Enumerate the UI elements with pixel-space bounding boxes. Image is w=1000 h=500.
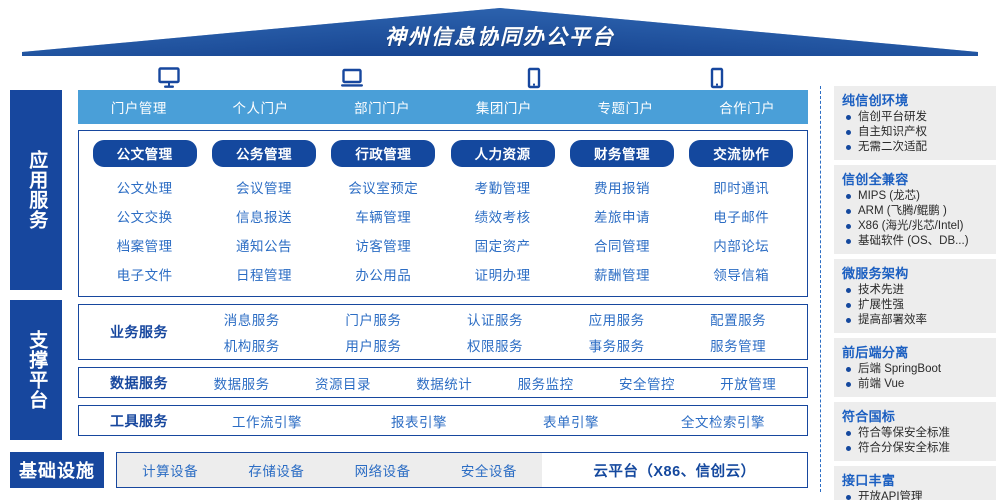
title-banner: 神州信息协同办公平台: [0, 0, 1000, 62]
support-item[interactable]: 事务服务: [556, 332, 678, 358]
app-item[interactable]: 差旅申请: [562, 201, 681, 230]
app-item[interactable]: 领导信箱: [682, 259, 801, 288]
feature-item: X86 (海光/兆芯/Intel): [842, 219, 990, 234]
feature-item: 技术先进: [842, 283, 990, 298]
architecture-diagram: 神州信息协同办公平台: [0, 0, 1000, 500]
feature-item: 后端 SpringBoot: [842, 362, 990, 377]
support-item[interactable]: 报表引擎: [343, 408, 495, 434]
support-item[interactable]: 表单引擎: [495, 408, 647, 434]
portal-item[interactable]: 门户管理: [78, 97, 200, 117]
app-category-header[interactable]: 公文管理: [93, 140, 197, 167]
support-item[interactable]: 安全管控: [596, 370, 697, 396]
device-slot-phone: [626, 60, 809, 90]
app-item[interactable]: 公文处理: [85, 172, 204, 201]
support-row-business: 业务服务 消息服务 门户服务 认证服务 应用服务 配置服务 机构服务 用户服务 …: [78, 304, 808, 360]
app-category-column: 行政管理 会议室预定 车辆管理 访客管理 办公用品: [324, 140, 443, 288]
support-item[interactable]: 服务监控: [495, 370, 596, 396]
infrastructure-item[interactable]: 网络设备: [330, 460, 436, 480]
support-row-body: 工作流引擎 报表引擎 表单引擎 全文检索引擎: [191, 408, 799, 434]
app-item[interactable]: 固定资产: [443, 230, 562, 259]
feature-list: 后端 SpringBoot 前端 Vue: [842, 362, 990, 392]
feature-card: 前后端分离 后端 SpringBoot 前端 Vue: [834, 338, 996, 397]
app-item[interactable]: 公文交换: [85, 201, 204, 230]
app-item[interactable]: 日程管理: [204, 259, 323, 288]
tablet-icon: [522, 66, 546, 90]
feature-title: 信创全兼容: [842, 169, 990, 188]
feature-title: 符合国标: [842, 406, 990, 425]
support-item[interactable]: 服务管理: [677, 332, 799, 358]
device-slot-tablet: [443, 60, 626, 90]
feature-title: 前后端分离: [842, 342, 990, 361]
support-item[interactable]: 资源目录: [292, 370, 393, 396]
support-row-label: 工具服务: [87, 411, 191, 431]
feature-item: 无需二次适配: [842, 140, 990, 155]
support-row-label: 业务服务: [87, 322, 191, 342]
app-item[interactable]: 会议管理: [204, 172, 323, 201]
device-slot-desktop: [78, 60, 261, 90]
feature-card: 信创全兼容 MIPS (龙芯) ARM (飞腾/鲲鹏 ) X86 (海光/兆芯/…: [834, 165, 996, 254]
feature-item: 开放API管理: [842, 490, 990, 500]
feature-item: 提高部署效率: [842, 313, 990, 328]
app-item[interactable]: 费用报销: [562, 172, 681, 201]
feature-item: 符合等保安全标准: [842, 426, 990, 441]
support-line: 机构服务 用户服务 权限服务 事务服务 服务管理: [191, 332, 799, 358]
support-line: 工作流引擎 报表引擎 表单引擎 全文检索引擎: [191, 408, 799, 434]
support-line: 数据服务 资源目录 数据统计 服务监控 安全管控 开放管理: [191, 370, 799, 396]
portal-item[interactable]: 合作门户: [686, 97, 808, 117]
support-row-body: 消息服务 门户服务 认证服务 应用服务 配置服务 机构服务 用户服务 权限服务 …: [191, 306, 799, 358]
support-row-tools: 工具服务 工作流引擎 报表引擎 表单引擎 全文检索引擎: [78, 405, 808, 436]
portal-item[interactable]: 个人门户: [200, 97, 322, 117]
app-category-header[interactable]: 人力资源: [451, 140, 555, 167]
smartphone-icon: [705, 66, 729, 90]
app-item[interactable]: 电子邮件: [682, 201, 801, 230]
feature-title: 接口丰富: [842, 470, 990, 489]
support-item[interactable]: 数据统计: [394, 370, 495, 396]
support-line: 消息服务 门户服务 认证服务 应用服务 配置服务: [191, 306, 799, 332]
page-title: 神州信息协同办公平台: [0, 21, 1000, 51]
application-services-panel: 公文管理 公文处理 公文交换 档案管理 电子文件 公务管理 会议管理 信息报送 …: [78, 130, 808, 297]
infrastructure-item[interactable]: 计算设备: [117, 460, 223, 480]
app-item[interactable]: 电子文件: [85, 259, 204, 288]
portal-item[interactable]: 专题门户: [565, 97, 687, 117]
layer-label-application: 应用服务: [10, 90, 62, 290]
support-item[interactable]: 数据服务: [191, 370, 292, 396]
device-slot-laptop: [261, 60, 444, 90]
app-category-header[interactable]: 行政管理: [331, 140, 435, 167]
feature-title: 微服务架构: [842, 263, 990, 282]
feature-card: 符合国标 符合等保安全标准 符合分保安全标准: [834, 402, 996, 461]
support-row-body: 数据服务 资源目录 数据统计 服务监控 安全管控 开放管理: [191, 370, 799, 396]
app-item[interactable]: 合同管理: [562, 230, 681, 259]
feature-card: 接口丰富 开放API管理: [834, 466, 996, 500]
application-grid: 公文管理 公文处理 公文交换 档案管理 电子文件 公务管理 会议管理 信息报送 …: [85, 140, 801, 288]
feature-item: 自主知识产权: [842, 125, 990, 140]
app-item[interactable]: 车辆管理: [324, 201, 443, 230]
app-item[interactable]: 薪酬管理: [562, 259, 681, 288]
app-category-column: 财务管理 费用报销 差旅申请 合同管理 薪酬管理: [562, 140, 681, 288]
app-category-column: 公务管理 会议管理 信息报送 通知公告 日程管理: [204, 140, 323, 288]
infrastructure-row: 计算设备 存储设备 网络设备 安全设备 云平台（X86、信创云）: [116, 452, 808, 488]
support-item[interactable]: 配置服务: [677, 306, 799, 332]
app-item[interactable]: 证明办理: [443, 259, 562, 288]
infrastructure-cloud-cell: 云平台（X86、信创云）: [542, 453, 807, 487]
infrastructure-devices: 计算设备 存储设备 网络设备 安全设备: [117, 453, 542, 487]
infrastructure-item[interactable]: 存储设备: [223, 460, 329, 480]
main-content-column: 门户管理 个人门户 部门门户 集团门户 专题门户 合作门户 公文管理 公文处理 …: [78, 90, 808, 436]
layer-label-infrastructure: 基础设施: [10, 452, 104, 488]
app-category-column: 公文管理 公文处理 公文交换 档案管理 电子文件: [85, 140, 204, 288]
portal-item[interactable]: 集团门户: [443, 97, 565, 117]
support-row-label: 数据服务: [87, 373, 191, 393]
app-item[interactable]: 访客管理: [324, 230, 443, 259]
app-item[interactable]: 考勤管理: [443, 172, 562, 201]
support-item[interactable]: 用户服务: [313, 332, 435, 358]
portal-item[interactable]: 部门门户: [321, 97, 443, 117]
app-item[interactable]: 即时通讯: [682, 172, 801, 201]
feature-list: MIPS (龙芯) ARM (飞腾/鲲鹏 ) X86 (海光/兆芯/Intel)…: [842, 189, 990, 249]
vertical-dashed-divider: [820, 86, 821, 492]
portal-bar: 门户管理 个人门户 部门门户 集团门户 专题门户 合作门户: [78, 90, 808, 124]
app-category-column: 人力资源 考勤管理 绩效考核 固定资产 证明办理: [443, 140, 562, 288]
laptop-icon: [340, 66, 364, 90]
app-category-header[interactable]: 交流协作: [689, 140, 793, 167]
support-item[interactable]: 权限服务: [434, 332, 556, 358]
support-item[interactable]: 全文检索引擎: [647, 408, 799, 434]
feature-item: 符合分保安全标准: [842, 441, 990, 456]
support-item[interactable]: 门户服务: [313, 306, 435, 332]
support-item[interactable]: 认证服务: [434, 306, 556, 332]
infrastructure-item[interactable]: 安全设备: [436, 460, 542, 480]
app-item[interactable]: 档案管理: [85, 230, 204, 259]
cloud-platform-label[interactable]: 云平台（X86、信创云）: [593, 460, 755, 481]
support-item[interactable]: 应用服务: [556, 306, 678, 332]
feature-card: 微服务架构 技术先进 扩展性强 提高部署效率: [834, 259, 996, 333]
app-category-header[interactable]: 财务管理: [570, 140, 674, 167]
app-item[interactable]: 绩效考核: [443, 201, 562, 230]
app-category-column: 交流协作 即时通讯 电子邮件 内部论坛 领导信箱: [682, 140, 801, 288]
layer-label-support: 支撑平台: [10, 300, 62, 440]
app-item[interactable]: 内部论坛: [682, 230, 801, 259]
feature-list: 技术先进 扩展性强 提高部署效率: [842, 283, 990, 328]
app-category-header[interactable]: 公务管理: [212, 140, 316, 167]
support-item[interactable]: 消息服务: [191, 306, 313, 332]
app-item[interactable]: 信息报送: [204, 201, 323, 230]
support-item[interactable]: 机构服务: [191, 332, 313, 358]
feature-item: 前端 Vue: [842, 377, 990, 392]
feature-title: 纯信创环境: [842, 90, 990, 109]
device-icon-strip: [78, 60, 808, 90]
app-item[interactable]: 通知公告: [204, 230, 323, 259]
feature-item: 扩展性强: [842, 298, 990, 313]
support-item[interactable]: 工作流引擎: [191, 408, 343, 434]
support-row-data: 数据服务 数据服务 资源目录 数据统计 服务监控 安全管控 开放管理: [78, 367, 808, 398]
feature-item: ARM (飞腾/鲲鹏 ): [842, 204, 990, 219]
feature-item: 基础软件 (OS、DB...): [842, 234, 990, 249]
support-item[interactable]: 开放管理: [698, 370, 799, 396]
desktop-monitor-icon: [157, 66, 181, 90]
feature-list: 信创平台研发 自主知识产权 无需二次适配: [842, 110, 990, 155]
app-item[interactable]: 办公用品: [324, 259, 443, 288]
feature-highlights-panel: 纯信创环境 信创平台研发 自主知识产权 无需二次适配 信创全兼容 MIPS (龙…: [834, 86, 996, 492]
feature-list: 开放API管理: [842, 490, 990, 500]
feature-list: 符合等保安全标准 符合分保安全标准: [842, 426, 990, 456]
feature-item: 信创平台研发: [842, 110, 990, 125]
feature-item: MIPS (龙芯): [842, 189, 990, 204]
app-item[interactable]: 会议室预定: [324, 172, 443, 201]
feature-card: 纯信创环境 信创平台研发 自主知识产权 无需二次适配: [834, 86, 996, 160]
